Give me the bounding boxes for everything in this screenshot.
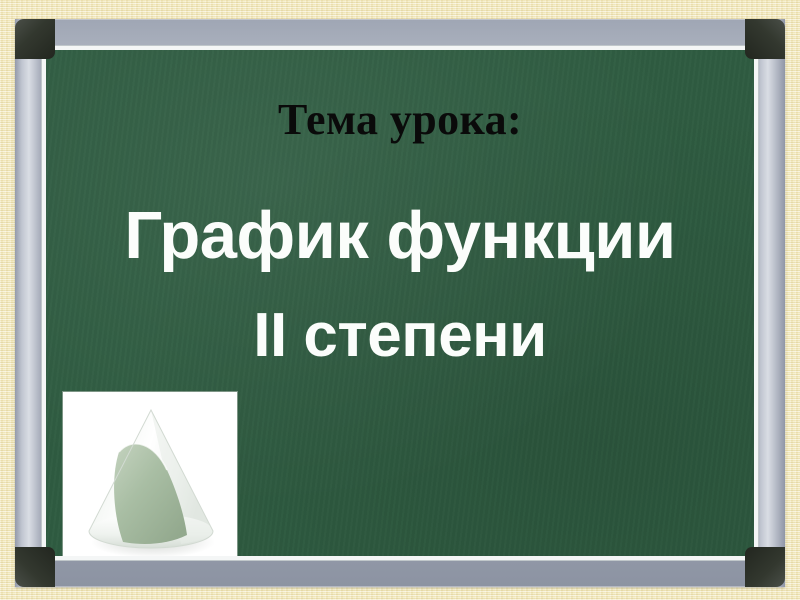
page-title-line-2: II степени (46, 305, 754, 367)
board-surface: Тема урока: График функции II степени (46, 50, 754, 556)
chalkboard: Тема урока: График функции II степени (15, 19, 785, 587)
corner-top-right (745, 19, 785, 59)
page-title: График функции II степени (46, 202, 754, 367)
page-title-line-1: График функции (46, 202, 754, 269)
cone-figure (63, 392, 237, 556)
corner-bottom-left (15, 547, 55, 587)
cone-illustration-icon (63, 392, 237, 556)
corner-bottom-right (745, 547, 785, 587)
corner-top-left (15, 19, 55, 59)
lesson-heading: Тема урока: (46, 98, 754, 142)
